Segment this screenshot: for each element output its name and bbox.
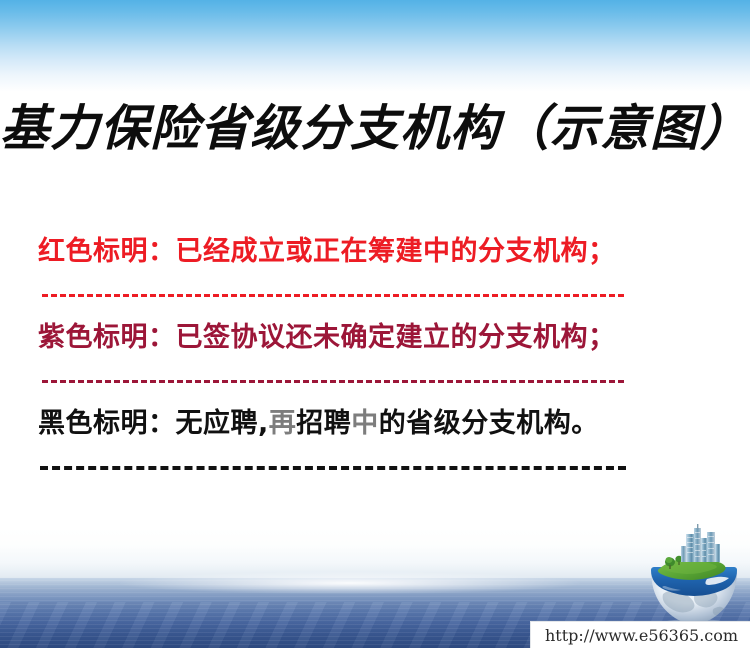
slide-canvas: 基力保险省级分支机构（示意图） 红色标明：已经成立或正在筹建中的分支机构； 紫色… (0, 0, 750, 648)
spacer-after-purple-row (38, 357, 688, 371)
separator-dashed-red (38, 285, 688, 307)
legend-description-black-part-5: 的省级分支机构。 (379, 408, 599, 439)
separator-dashed-black (38, 457, 688, 479)
slide-title: 基力保险省级分支机构（示意图） (0, 98, 750, 158)
spacer-after-red-row (38, 271, 688, 285)
legend-description-black-part-2: 再 (269, 408, 297, 439)
spacer-before-black-row (38, 393, 688, 405)
spacer-after-black-row (38, 443, 688, 457)
legend-row-purple: 紫色标明：已签协议还未确定建立的分支机构； (38, 319, 688, 357)
sky-gradient-background (0, 0, 750, 92)
legend-label-purple: 紫色标明： (38, 322, 176, 353)
watermark-bar: http://www.e56365.com (530, 621, 750, 648)
legend-description-purple: 已签协议还未确定建立的分支机构； (176, 322, 616, 353)
spacer-before-purple-row (38, 307, 688, 319)
legend-row-red: 红色标明：已经成立或正在筹建中的分支机构； (38, 233, 688, 271)
ocean-horizon-glow (120, 572, 580, 594)
legend-label-black: 黑色标明： (38, 408, 176, 439)
watermark-url[interactable]: http://www.e56365.com (531, 622, 750, 647)
legend-label-red: 红色标明： (38, 236, 176, 267)
legend-row-black: 黑色标明：无应聘,再招聘中的省级分支机构。 (38, 405, 688, 443)
legend-description-red: 已经成立或正在筹建中的分支机构； (176, 236, 616, 267)
separator-dashed-purple (38, 371, 688, 393)
legend-block: 红色标明：已经成立或正在筹建中的分支机构； 紫色标明：已签协议还未确定建立的分支… (38, 233, 688, 479)
earth-city-globe-icon (645, 524, 743, 628)
legend-description-black-part-3: 招聘 (296, 408, 351, 439)
legend-description-black-part-1: 无应聘, (176, 408, 269, 439)
legend-description-black-part-4: 中 (351, 408, 379, 439)
